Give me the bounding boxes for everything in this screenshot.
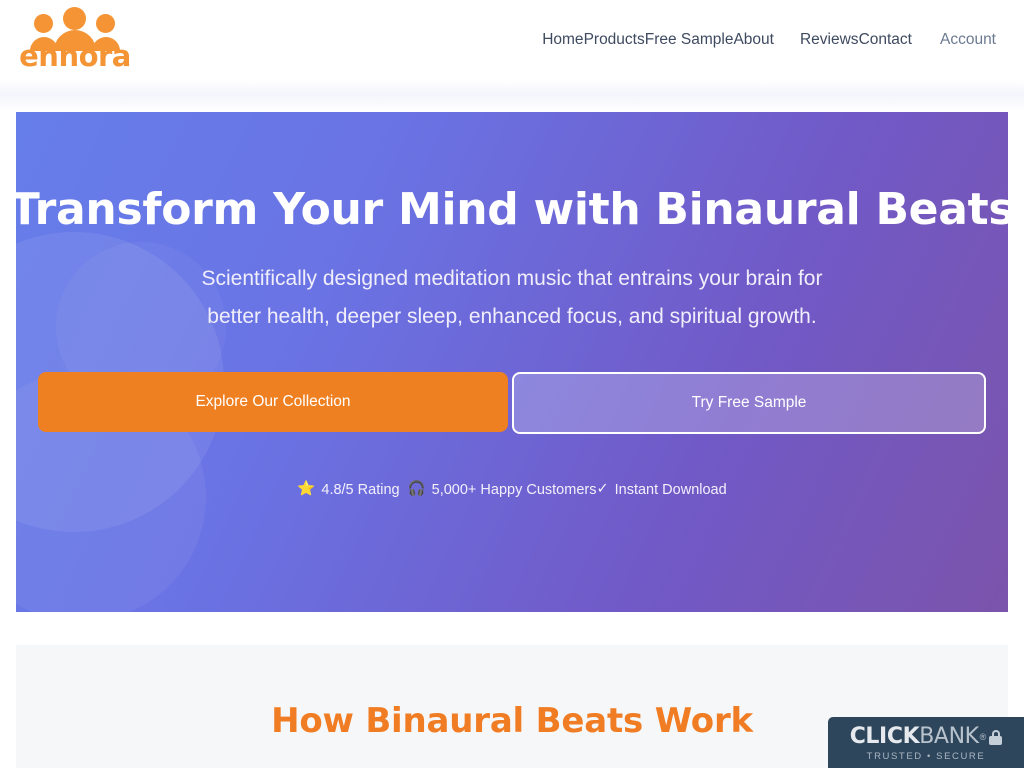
star-icon: ⭐ xyxy=(297,482,315,497)
person-body-center-icon xyxy=(54,30,96,51)
registered-mark-icon: ® xyxy=(980,733,987,742)
nav-item-reviews[interactable]: Reviews xyxy=(800,31,859,49)
main-navigation: Home Products Free Sample About Reviews … xyxy=(542,0,996,80)
lock-icon xyxy=(989,730,1002,745)
clickbank-wordmark: CLICK BANK ® xyxy=(850,726,1003,748)
nav-item-free-sample[interactable]: Free Sample xyxy=(645,31,734,49)
page-root: ennora Home Products Free Sample About R… xyxy=(0,0,1024,768)
person-head-left-icon xyxy=(34,14,53,33)
trust-badge-download-label: Instant Download xyxy=(615,482,727,498)
trust-badge-rating: ⭐ 4.8/5 Rating xyxy=(297,482,399,498)
person-body-right-icon xyxy=(92,37,120,51)
clickbank-word-click: CLICK xyxy=(850,726,920,748)
headphones-icon: 🎧 xyxy=(408,482,426,497)
nav-item-contact[interactable]: Contact xyxy=(859,31,912,49)
check-icon: ✓ xyxy=(596,482,608,497)
trust-badge-customers: 🎧 5,000+ Happy Customers xyxy=(408,482,597,498)
header-underglow xyxy=(0,80,1024,112)
explore-collection-button[interactable]: Explore Our Collection xyxy=(38,372,508,432)
nav-item-account[interactable]: Account xyxy=(940,31,996,49)
try-free-sample-button[interactable]: Try Free Sample xyxy=(512,372,986,434)
nav-item-products[interactable]: Products xyxy=(584,31,645,49)
clickbank-word-bank: BANK xyxy=(919,726,978,748)
trust-badge-download: ✓ Instant Download xyxy=(596,482,726,498)
hero-trust-badges: ⭐ 4.8/5 Rating 🎧 5,000+ Happy Customers … xyxy=(297,482,726,498)
brand-logo[interactable]: ennora xyxy=(20,6,130,74)
nav-item-home[interactable]: Home xyxy=(542,31,583,49)
nav-item-about[interactable]: About xyxy=(733,31,774,49)
hero-subtitle: Scientifically designed meditation music… xyxy=(172,260,852,336)
ennora-people-icon xyxy=(29,6,121,46)
person-head-right-icon xyxy=(96,14,115,33)
hero-content: Transform Your Mind with Binaural Beats … xyxy=(16,112,1008,612)
clickbank-tagline: TRUSTED • SECURE xyxy=(867,751,986,762)
trust-badge-rating-label: 4.8/5 Rating xyxy=(321,482,399,498)
clickbank-trust-badge[interactable]: CLICK BANK ® TRUSTED • SECURE xyxy=(828,717,1024,768)
hero-title: Transform Your Mind with Binaural Beats xyxy=(16,186,1008,234)
hero-cta-group: Explore Our Collection Try Free Sample xyxy=(36,372,988,434)
nav-group-primary: Home Products Free Sample About xyxy=(542,31,774,49)
person-head-center-icon xyxy=(63,7,86,30)
site-header: ennora Home Products Free Sample About R… xyxy=(0,0,1024,80)
nav-group-secondary: Reviews Contact xyxy=(800,31,912,49)
trust-badge-customers-label: 5,000+ Happy Customers xyxy=(432,482,597,498)
hero-section: Transform Your Mind with Binaural Beats … xyxy=(16,112,1008,612)
